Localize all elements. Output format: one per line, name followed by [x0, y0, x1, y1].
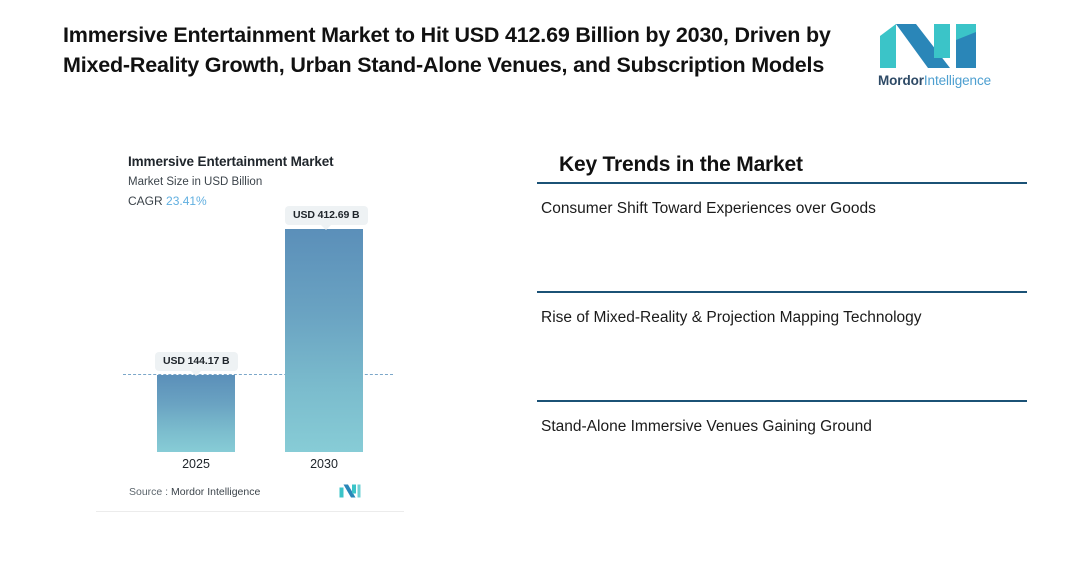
mordor-intelligence-logo: MordorIntelligence: [878, 22, 986, 94]
chart-source: Source : Mordor Intelligence: [129, 486, 260, 498]
x-axis-tick-2025: 2025: [157, 457, 235, 471]
trend-item-label: Consumer Shift Toward Experiences over G…: [537, 197, 1027, 221]
logo-word-mordor: Mordor: [878, 73, 924, 88]
page-header: Immersive Entertainment Market to Hit US…: [0, 0, 1083, 118]
mordor-logo-mark-icon: [878, 22, 982, 70]
chart-plot-area: USD 144.17 B USD 412.69 B 2025 2030: [96, 138, 404, 512]
trends-heading: Key Trends in the Market: [559, 148, 1027, 182]
source-label: Source :: [129, 486, 168, 498]
bar-2030: [285, 229, 363, 452]
bar-value-label-2025: USD 144.17 B: [155, 352, 238, 371]
page-title: Immersive Entertainment Market to Hit US…: [63, 20, 868, 80]
trend-item: Stand-Alone Immersive Venues Gaining Gro…: [537, 400, 1027, 439]
logo-wordmark: MordorIntelligence: [878, 73, 982, 88]
source-name: Mordor Intelligence: [171, 486, 260, 498]
trend-item-label: Rise of Mixed-Reality & Projection Mappi…: [537, 306, 1027, 330]
market-size-chart-card: Immersive Entertainment Market Market Si…: [96, 138, 404, 512]
x-axis-tick-2030: 2030: [285, 457, 363, 471]
bar-2025: [157, 375, 235, 452]
source-mordor-logo-icon: [339, 484, 361, 498]
logo-word-intelligence: Intelligence: [924, 73, 991, 88]
bar-value-label-2030: USD 412.69 B: [285, 206, 368, 225]
trend-item: Rise of Mixed-Reality & Projection Mappi…: [537, 291, 1027, 400]
key-trends-panel: Key Trends in the Market Consumer Shift …: [537, 148, 1027, 439]
trend-item-label: Stand-Alone Immersive Venues Gaining Gro…: [537, 415, 1027, 439]
trend-item: Consumer Shift Toward Experiences over G…: [537, 182, 1027, 291]
